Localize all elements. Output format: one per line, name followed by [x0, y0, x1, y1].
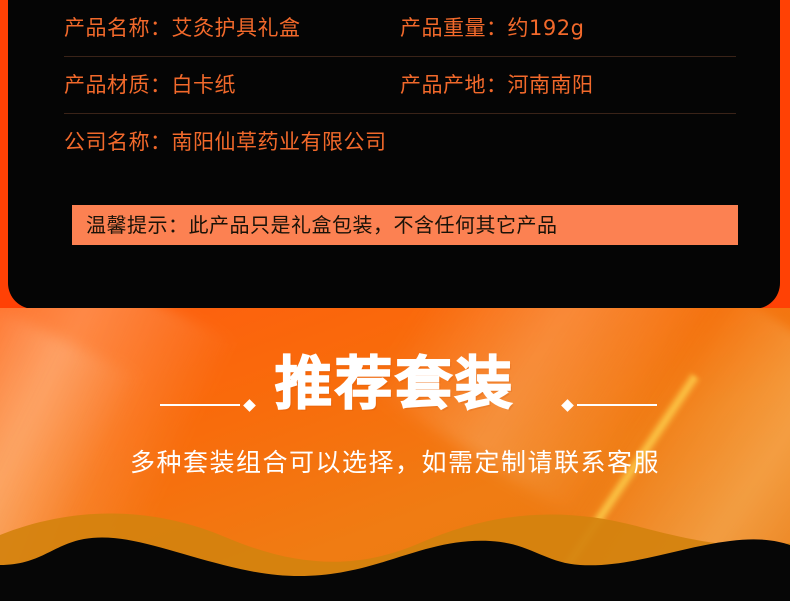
spec-company-name: 公司名称：南阳仙草药业有限公司: [64, 132, 400, 153]
recommended-set-banner: 推荐套装 多种套装组合可以选择，如需定制请联系客服: [0, 308, 790, 601]
banner-title-block: 推荐套装: [0, 356, 790, 413]
table-row: 产品材质：白卡纸 产品产地：河南南阳: [64, 57, 736, 114]
spec-product-material: 产品材质：白卡纸: [64, 75, 400, 96]
table-row: 产品名称：艾灸护具礼盒 产品重量：约192g: [64, 0, 736, 57]
spec-product-origin: 产品产地：河南南阳: [400, 75, 736, 96]
wave-decoration: [0, 491, 790, 601]
spec-product-name: 产品名称：艾灸护具礼盒: [64, 18, 400, 39]
spec-panel: 产品名称：艾灸护具礼盒 产品重量：约192g 产品材质：白卡纸 产品产地：河南南…: [8, 0, 780, 309]
banner-subtitle: 多种套装组合可以选择，如需定制请联系客服: [0, 450, 790, 475]
spec-section: 产品名称：艾灸护具礼盒 产品重量：约192g 产品材质：白卡纸 产品产地：河南南…: [0, 0, 790, 312]
table-row: 公司名称：南阳仙草药业有限公司: [64, 114, 736, 171]
page-title: 推荐套装: [275, 356, 515, 413]
notice-banner: 温馨提示：此产品只是礼盒包装，不含任何其它产品: [72, 205, 738, 245]
product-detail-page: 产品名称：艾灸护具礼盒 产品重量：约192g 产品材质：白卡纸 产品产地：河南南…: [0, 0, 790, 601]
spec-product-weight: 产品重量：约192g: [400, 18, 736, 39]
spec-table: 产品名称：艾灸护具礼盒 产品重量：约192g 产品材质：白卡纸 产品产地：河南南…: [8, 0, 780, 171]
notice-text: 温馨提示：此产品只是礼盒包装，不含任何其它产品: [72, 215, 558, 235]
